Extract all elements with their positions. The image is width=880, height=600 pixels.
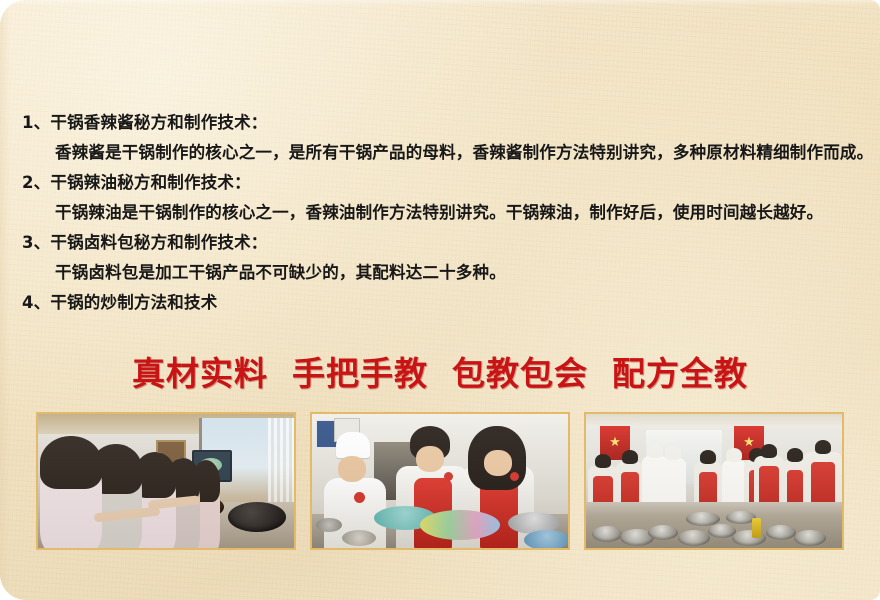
photo-2-scene <box>312 414 568 548</box>
slogan-banner: 真材实料手把手教包教包会配方全教 <box>0 352 880 396</box>
hair <box>761 444 777 458</box>
list-item-heading-2: 2、干锅辣油秘方和制作技术： <box>0 168 880 198</box>
list-item-heading-3: 3、干锅卤料包秘方和制作技术： <box>0 228 880 258</box>
small-bowl <box>342 530 376 546</box>
list-item-number-3: 3、 <box>22 228 50 258</box>
slogan-part-1: 真材实料 <box>132 354 268 393</box>
photo-classroom-practice: ★ ★ <box>584 412 844 550</box>
training-course-poster: 1、干锅香辣酱秘方和制作技术： 香辣酱是干锅制作的核心之一，是所有干锅产品的母料… <box>0 0 880 600</box>
banner-star-icon: ★ <box>609 436 621 449</box>
slogan-part-3: 包教包会 <box>452 354 588 393</box>
list-item: 2、干锅辣油秘方和制作技术： 干锅辣油是干锅制作的核心之一，香辣油制作方法特别讲… <box>0 168 880 228</box>
chef-hat <box>726 448 742 462</box>
slogan-part-2: 手把手教 <box>292 354 428 393</box>
list-item-heading-1: 1、干锅香辣酱秘方和制作技术： <box>0 108 880 138</box>
list-item-body-1: 香辣酱是干锅制作的核心之一，是所有干锅产品的母料，香辣酱制作方法特别讲究，多种原… <box>0 138 880 168</box>
list-item-heading-text-2: 干锅辣油秘方和制作技术： <box>50 173 250 192</box>
photo-gallery: ★ ★ <box>36 412 844 550</box>
student-figure <box>40 436 102 548</box>
list-item-heading-text-3: 干锅卤料包秘方和制作技术： <box>50 233 267 252</box>
face <box>416 446 444 472</box>
list-item: 3、干锅卤料包秘方和制作技术： 干锅卤料包是加工干锅产品不可缺少的，其配料达二十… <box>0 228 880 288</box>
hair <box>787 448 803 462</box>
logo-badge <box>354 492 365 503</box>
wok-pan <box>228 502 286 532</box>
list-item: 4、干锅的炒制方法和技术 <box>0 288 880 318</box>
list-item-number-4: 4、 <box>22 288 50 318</box>
chef-hat <box>665 446 681 460</box>
logo-badge <box>510 472 519 481</box>
steel-pot <box>648 525 678 540</box>
steel-pot <box>766 525 796 540</box>
steel-pot <box>678 530 710 546</box>
list-item-number-2: 2、 <box>22 168 50 198</box>
steel-pot <box>794 530 826 546</box>
face <box>484 450 512 476</box>
small-bowl <box>316 518 342 532</box>
colorful-basin <box>420 510 500 540</box>
face <box>338 456 366 482</box>
sauce-bottle <box>752 518 761 538</box>
photo-3-scene: ★ ★ <box>586 414 842 548</box>
hair <box>595 454 611 468</box>
logo-badge <box>444 472 453 481</box>
hair <box>40 436 102 489</box>
course-content-list: 1、干锅香辣酱秘方和制作技术： 香辣酱是干锅制作的核心之一，是所有干锅产品的母料… <box>0 108 880 318</box>
blue-basin <box>524 530 568 548</box>
hair <box>622 450 638 464</box>
list-item-heading-text-1: 干锅香辣酱秘方和制作技术： <box>50 113 267 132</box>
steel-pot <box>686 512 720 526</box>
list-item-number-1: 1、 <box>22 108 50 138</box>
list-item-heading-4: 4、干锅的炒制方法和技术 <box>0 288 880 318</box>
hair <box>700 450 716 464</box>
list-item-body-2: 干锅辣油是干锅制作的核心之一，香辣油制作方法特别讲究。干锅辣油，制作好后，使用时… <box>0 198 880 228</box>
photo-cooking-class-woks <box>36 412 296 550</box>
chef-hat <box>336 432 370 458</box>
list-item-heading-text-4: 干锅的炒制方法和技术 <box>50 293 217 312</box>
list-item: 1、干锅香辣酱秘方和制作技术： 香辣酱是干锅制作的核心之一，是所有干锅产品的母料… <box>0 108 880 168</box>
steel-pot <box>592 526 622 542</box>
slogan-part-4: 配方全教 <box>612 354 748 393</box>
hair <box>815 440 831 454</box>
photo-1-scene <box>38 414 294 548</box>
list-item-body-3: 干锅卤料包是加工干锅产品不可缺少的，其配料达二十多种。 <box>0 258 880 288</box>
photo-chef-teaching-students <box>310 412 570 550</box>
